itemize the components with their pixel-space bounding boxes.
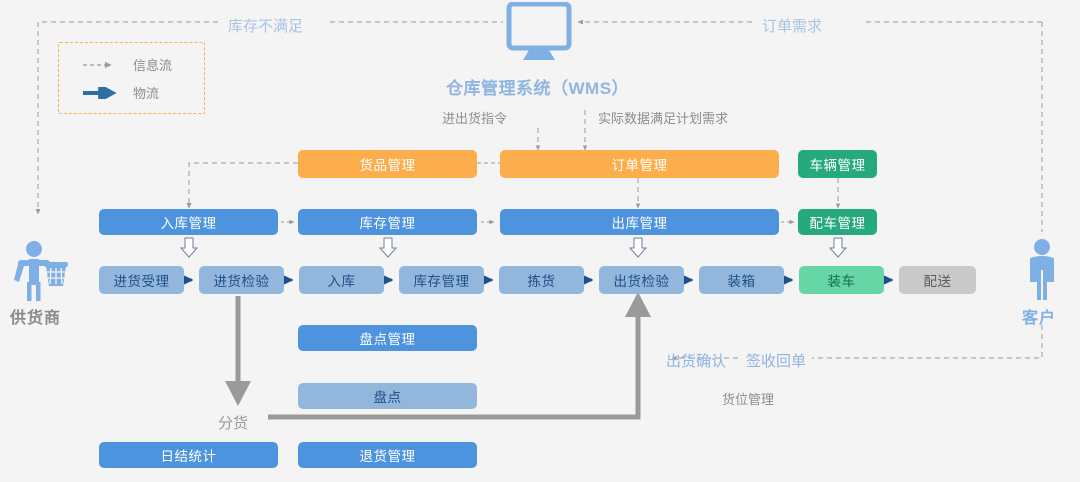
legend-item-info-flow: 信息流 [81, 55, 172, 74]
solid-arrow-icon [81, 87, 121, 99]
label-order-demand: 订单需求 [762, 15, 822, 36]
step-label: 装箱 [728, 270, 756, 290]
module-order-management[interactable]: 订单管理 [500, 150, 779, 178]
customer-person-icon [1018, 238, 1066, 302]
module-label: 入库管理 [161, 212, 217, 232]
diagram-canvas: 信息流 物流 仓库管理系统（WMS） 库存不满足 订单需求 进出货指令 实际数据… [0, 0, 1080, 482]
step-shipment-inspection[interactable]: 出货检验 [599, 266, 684, 294]
step-receiving-acceptance[interactable]: 进货受理 [99, 266, 184, 294]
step-label: 装车 [828, 270, 856, 290]
label-shipment-confirm: 出货确认 [666, 350, 726, 371]
module-label: 盘点 [374, 386, 402, 406]
monitor-icon [503, 2, 575, 64]
step-picking[interactable]: 拣货 [499, 266, 584, 294]
module-label: 退货管理 [360, 445, 416, 465]
label-location-management: 货位管理 [722, 389, 774, 408]
supplier-person-basket-icon [12, 240, 70, 302]
label-distribute: 分货 [218, 412, 248, 433]
module-label: 配车管理 [810, 212, 866, 232]
step-receiving-inspection[interactable]: 进货检验 [199, 266, 284, 294]
step-inventory-management[interactable]: 库存管理 [399, 266, 484, 294]
module-label: 盘点管理 [360, 328, 416, 348]
step-label: 库存管理 [414, 270, 470, 290]
step-delivery[interactable]: 配送 [899, 266, 976, 294]
legend-label-info-flow: 信息流 [133, 55, 172, 74]
module-label: 出库管理 [612, 212, 668, 232]
step-label: 入库 [328, 270, 356, 290]
wms-title: 仓库管理系统（WMS） [446, 74, 629, 99]
module-daily-settlement[interactable]: 日结统计 [99, 442, 278, 468]
step-label: 配送 [924, 270, 952, 290]
label-stock-shortage: 库存不满足 [228, 15, 303, 36]
module-return-management[interactable]: 退货管理 [298, 442, 477, 468]
module-goods-management[interactable]: 货品管理 [298, 150, 477, 178]
step-label: 进货受理 [114, 270, 170, 290]
step-loading[interactable]: 装车 [799, 266, 884, 294]
module-outbound-management[interactable]: 出库管理 [500, 209, 779, 235]
step-label: 进货检验 [214, 270, 270, 290]
label-inout-command: 进出货指令 [442, 108, 507, 127]
label-actual-data: 实际数据满足计划需求 [598, 108, 728, 127]
step-packing[interactable]: 装箱 [699, 266, 784, 294]
step-label: 拣货 [528, 270, 556, 290]
module-label: 库存管理 [360, 212, 416, 232]
module-inventory-management[interactable]: 库存管理 [298, 209, 477, 235]
module-stocktaking-management[interactable]: 盘点管理 [298, 325, 477, 351]
module-inbound-management[interactable]: 入库管理 [99, 209, 278, 235]
module-label: 车辆管理 [810, 154, 866, 174]
module-label: 日结统计 [161, 445, 217, 465]
module-dispatch-management[interactable]: 配车管理 [798, 209, 877, 235]
module-label: 订单管理 [612, 154, 668, 174]
legend-box: 信息流 物流 [58, 42, 205, 114]
actor-label-customer: 客户 [1022, 304, 1056, 328]
legend-item-logistics: 物流 [81, 83, 159, 102]
label-signed-receipt: 签收回单 [746, 350, 806, 371]
actor-label-supplier: 供货商 [10, 304, 61, 328]
legend-label-logistics: 物流 [133, 83, 159, 102]
module-label: 货品管理 [360, 154, 416, 174]
module-stocktaking[interactable]: 盘点 [298, 383, 477, 409]
step-putaway[interactable]: 入库 [299, 266, 384, 294]
module-vehicle-management[interactable]: 车辆管理 [798, 150, 877, 178]
step-label: 出货检验 [614, 270, 670, 290]
dashed-arrow-icon [81, 59, 121, 71]
